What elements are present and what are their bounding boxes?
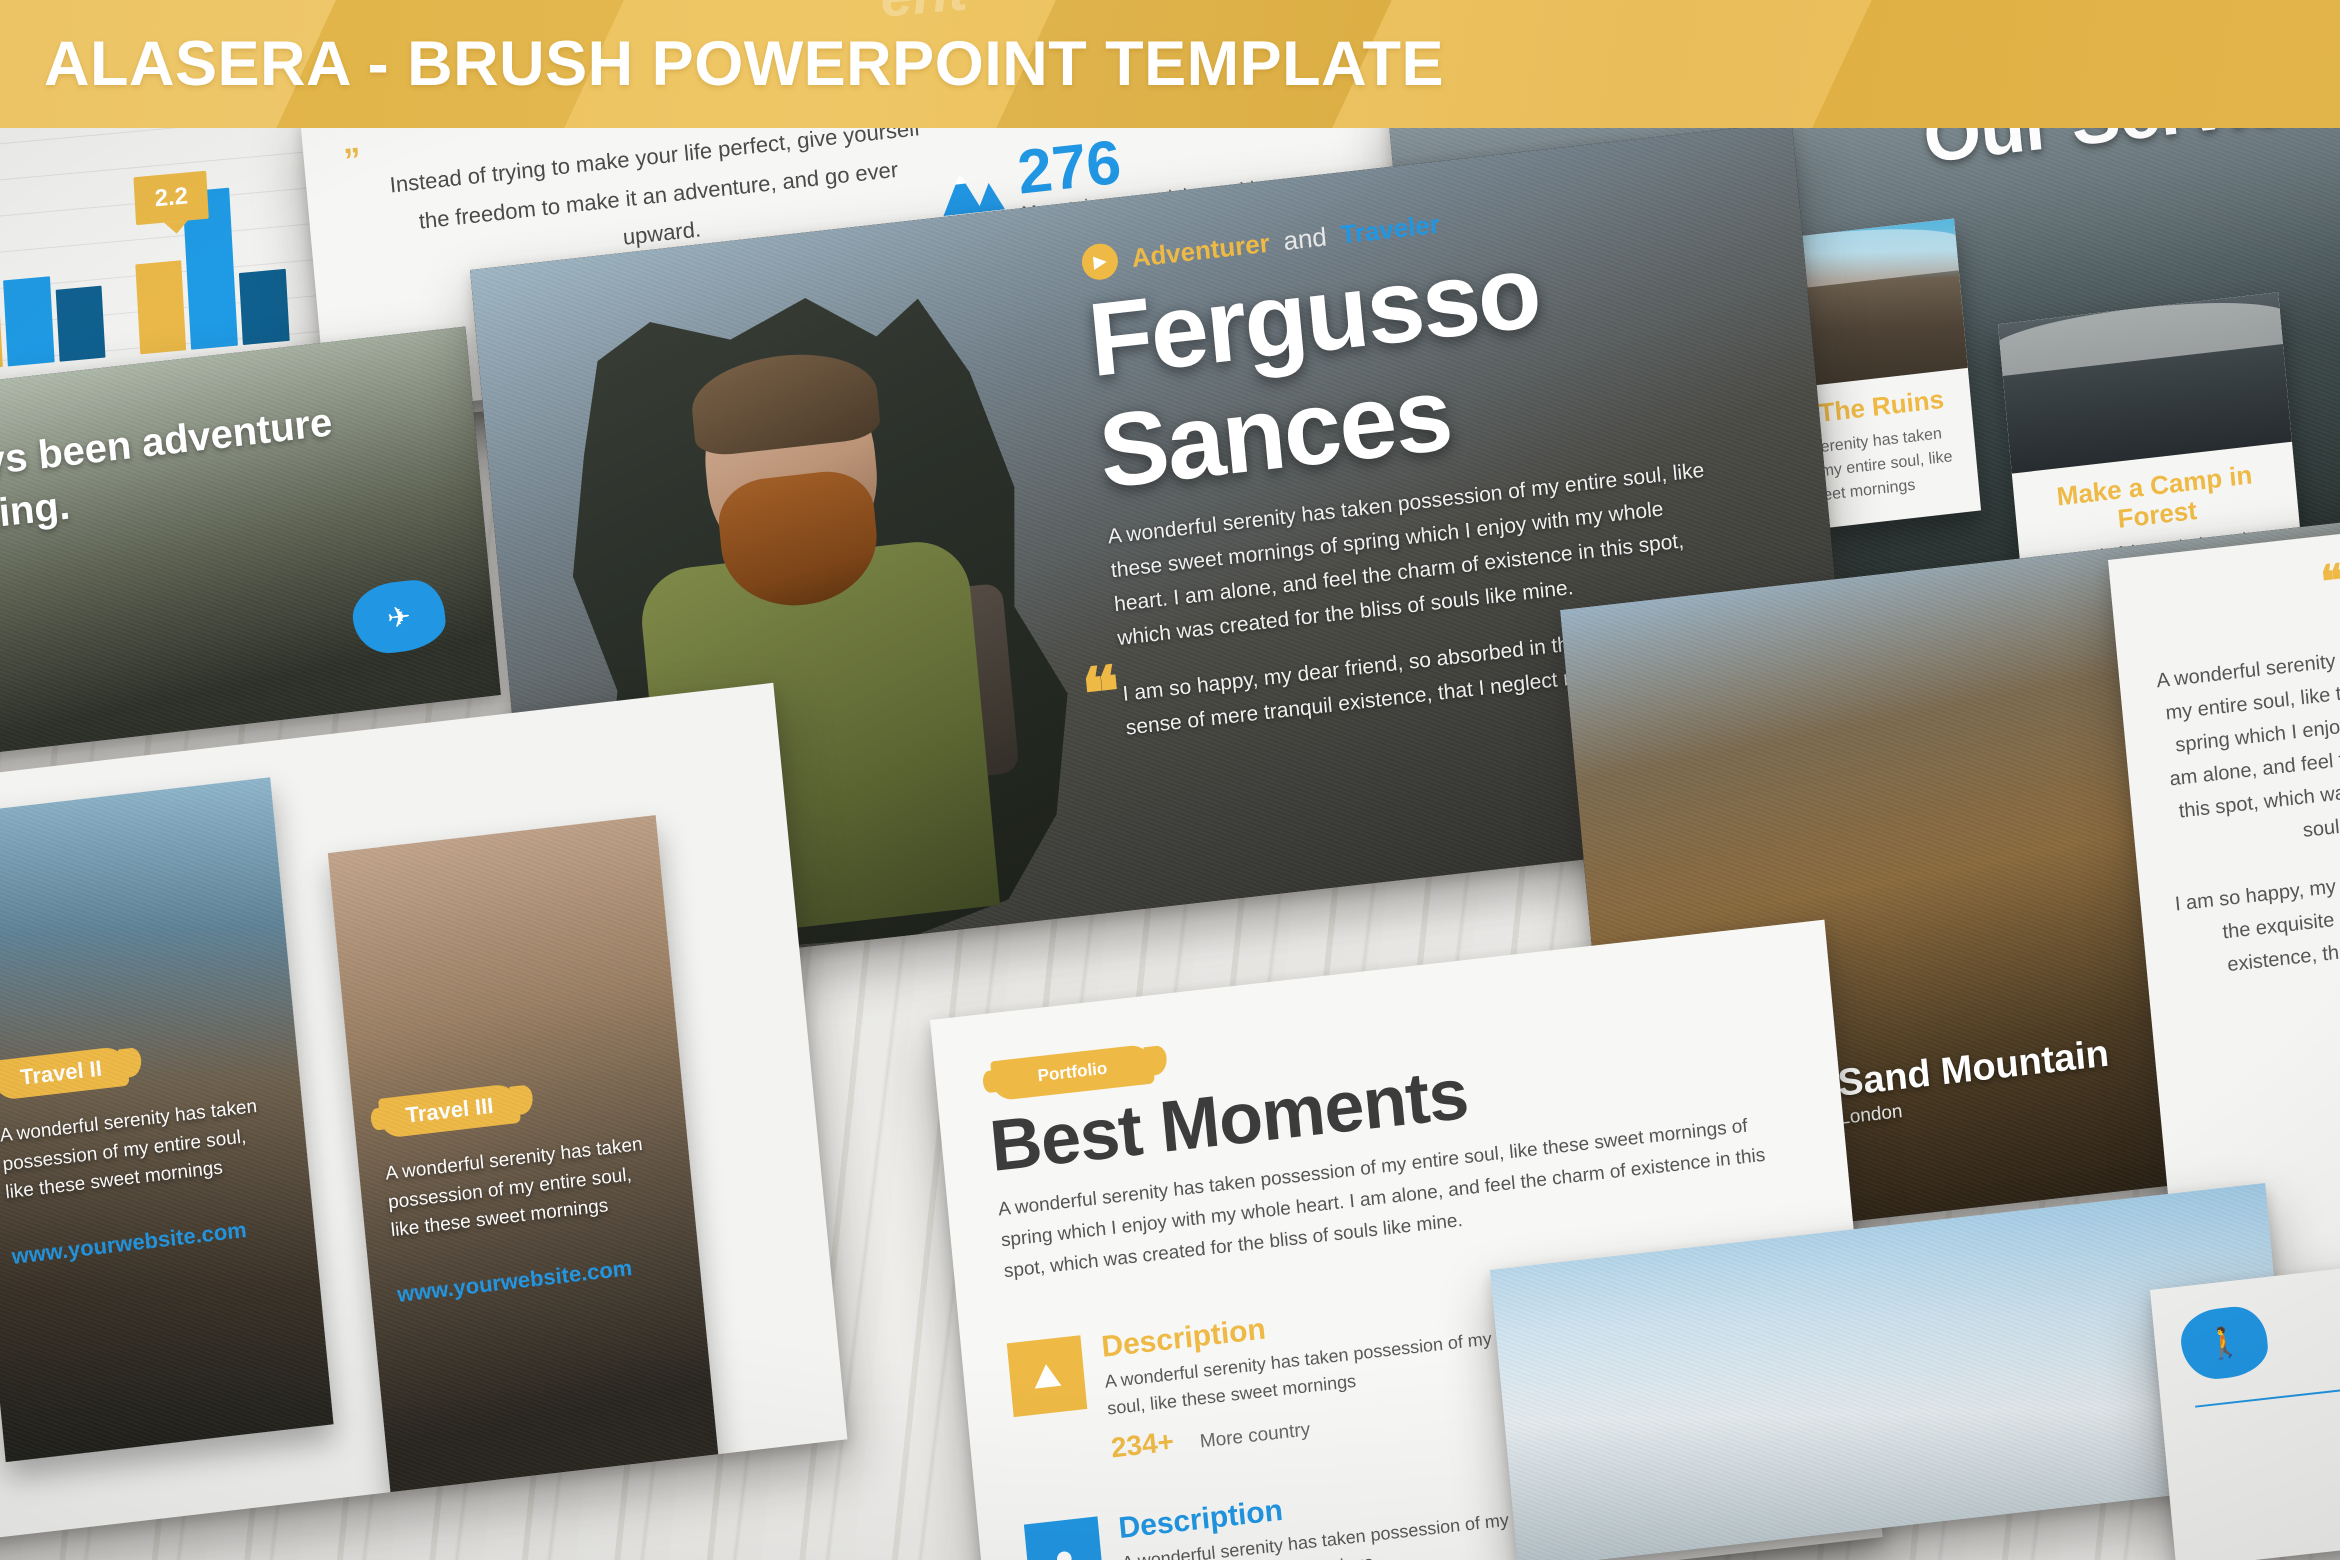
slide-far-right-bottom[interactable]: 🚶 [2150,1261,2340,1560]
slide-left-quote[interactable]: has always been adventure and thinking. … [0,326,501,776]
bar-s1-c2 [135,260,187,354]
bar-group-1 [0,204,106,371]
bar-s3-c2 [239,269,290,345]
item-caption: More country [1199,1419,1311,1453]
far-paragraph-1: A wonderful serenity has taken possessio… [2152,620,2340,862]
slide-travel-cards[interactable]: Travel II A wonderful serenity has taken… [0,683,847,1557]
travel-card-link[interactable]: www.yourwebsite.com [396,1255,633,1308]
travel-card-link[interactable]: www.yourwebsite.com [11,1217,248,1270]
hero-kicker-secondary: Traveler [1339,208,1441,250]
screenshot-canvas: 6 5 4 3 2 1 0 [0,0,2340,1560]
banner-ghost-text: ent [877,0,970,31]
play-icon[interactable]: ▶ [1080,242,1119,282]
quote-icon: ❝ [1081,670,1122,716]
hero-kicker-and: and [1282,221,1328,257]
bar-s1-c1 [0,213,3,371]
quote-icon: ❝ [2320,568,2340,597]
item-number: 234+ [1110,1426,1176,1465]
far-paragraph-2: I am so happy, my dear friend, so absorb… [2173,844,2340,988]
bar-s2-c1 [3,276,54,366]
title-banner: ent ALASERA - BRUSH POWERPOINT TEMPLATE [0,0,2340,128]
hiker-icon: 🚶 [2178,1303,2270,1382]
quote-open-icon: ” [343,152,361,171]
misty-forest-photo [1998,292,2292,473]
globe-icon: ● [1024,1516,1105,1560]
travel-card-body: A wonderful serenity has taken possessio… [384,1130,661,1246]
travel-card-tag: Travel III [378,1083,521,1139]
travel-card-body: A wonderful serenity has taken possessio… [0,1092,275,1208]
banner-title: ALASERA - BRUSH POWERPOINT TEMPLATE [0,28,1444,100]
data-label-yellow: 2.2 [133,171,209,226]
divider [2195,1383,2340,1408]
travel-card-2[interactable]: Travel III A wonderful serenity has take… [328,815,719,1500]
far-text-block: A wonderful serenity has taken possessio… [2108,508,2340,992]
map-book-icon: ⛰ [1007,1335,1088,1417]
travel-card-1[interactable]: Travel II A wonderful serenity has taken… [0,777,334,1462]
mountain-icon [939,164,1005,217]
bar-s3-c1 [55,286,106,362]
travel-card-tag: Travel II [0,1046,130,1101]
cliff-photo [0,326,501,776]
